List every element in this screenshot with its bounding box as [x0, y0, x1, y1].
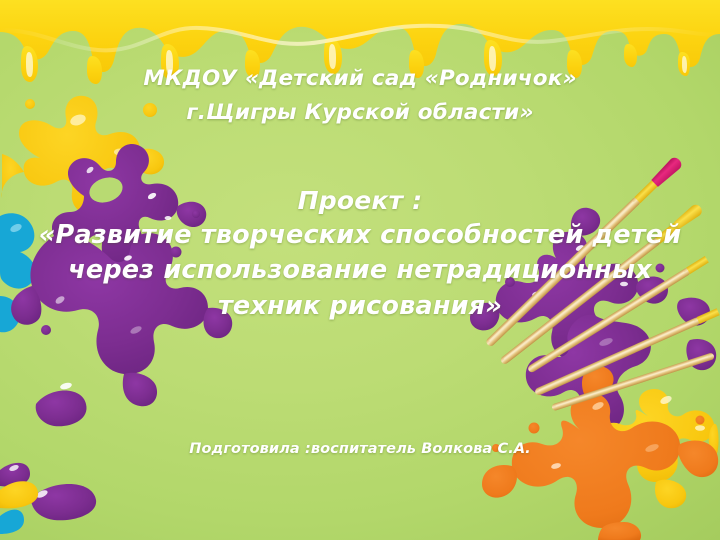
project-title-line-3: техник рисования»: [0, 291, 720, 321]
project-label: Проект :: [0, 186, 720, 215]
organization-line-2: г.Щигры Курской области»: [0, 100, 720, 125]
organization-line-1: МКДОУ «Детский сад «Родничок»: [0, 66, 720, 91]
project-title-line-1: «Развитие творческих способностей детей: [0, 220, 720, 250]
presentation-slide: МКДОУ «Детский сад «Родничок» г.Щигры Ку…: [0, 0, 720, 540]
project-title-line-2: через использование нетрадиционных: [0, 255, 720, 285]
author-line: Подготовила :воспитатель Волкова С.А.: [0, 441, 720, 457]
slide-text-layer: МКДОУ «Детский сад «Родничок» г.Щигры Ку…: [0, 0, 720, 540]
